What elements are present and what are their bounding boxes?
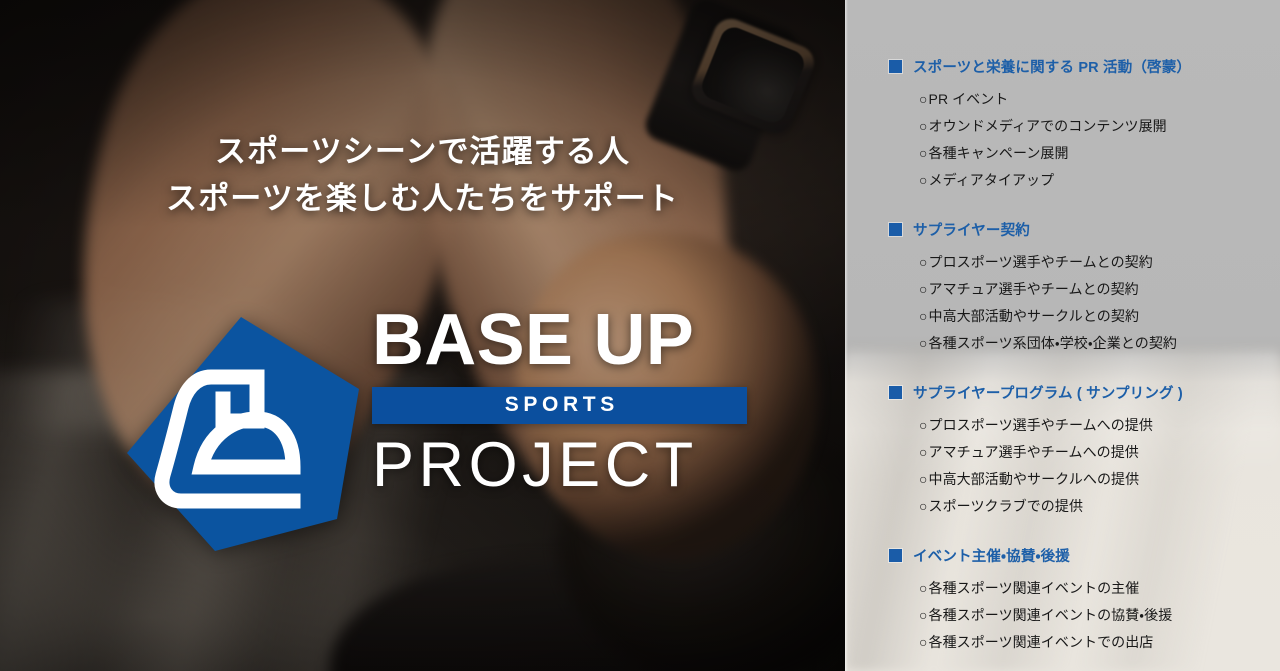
circle-bullet-icon: ○: [919, 86, 928, 113]
list-item-label: プロスポーツ選手やチームとの契約: [929, 249, 1153, 276]
hero-headline-line-1: スポーツシーンで活躍する人: [0, 128, 845, 175]
circle-bullet-icon: ○: [919, 249, 928, 276]
list-item-label: アマチュア選手やチームとの契約: [929, 276, 1139, 303]
list-item-label: 中高大部活動やサークルとの契約: [929, 303, 1140, 330]
hero-headline-line-2: スポーツを楽しむ人たちをサポート: [0, 175, 845, 222]
circle-bullet-icon: ○: [919, 167, 928, 194]
hero-headline: スポーツシーンで活躍する人 スポーツを楽しむ人たちをサポート: [0, 128, 845, 222]
square-bullet-icon: [889, 223, 902, 236]
list-item: ○各種スポーツ系団体・学校・企業との契約: [919, 330, 1280, 357]
list-item-label: 各種スポーツ関連イベントでの出店: [929, 629, 1154, 656]
circle-bullet-icon: ○: [919, 412, 928, 439]
list-item: ○各種キャンペーン展開: [919, 140, 1280, 167]
services-section-header: スポーツと栄養に関する PR 活動（啓蒙）: [889, 56, 1280, 77]
square-bullet-icon: [889, 549, 902, 562]
list-item: ○オウンドメディアでのコンテンツ展開: [919, 113, 1280, 140]
services-section: イベント主催・協賛・後援○各種スポーツ関連イベントの主催○各種スポーツ関連イベン…: [889, 545, 1280, 656]
services-section-header: サプライヤー契約: [889, 219, 1280, 240]
square-bullet-icon: [889, 60, 902, 73]
list-item: ○各種スポーツ関連イベントでの出店: [919, 629, 1280, 656]
circle-bullet-icon: ○: [919, 466, 928, 493]
services-section-title: サプライヤー契約: [913, 219, 1030, 240]
list-item: ○PR イベント: [919, 86, 1280, 113]
list-item-label: スポーツクラブでの提供: [929, 493, 1084, 520]
services-section-title: イベント主催・協賛・後援: [913, 545, 1070, 566]
circle-bullet-icon: ○: [919, 140, 928, 167]
services-section-title: スポーツと栄養に関する PR 活動（啓蒙）: [913, 56, 1191, 77]
services-item-list: ○PR イベント○オウンドメディアでのコンテンツ展開○各種キャンペーン展開○メデ…: [889, 86, 1280, 194]
circle-bullet-icon: ○: [919, 575, 928, 602]
list-item-label: PR イベント: [929, 86, 1009, 113]
square-bullet-icon: [889, 386, 902, 399]
list-item: ○アマチュア選手やチームとの契約: [919, 276, 1280, 303]
list-item-label: メディアタイアップ: [929, 167, 1055, 194]
list-item-label: 各種スポーツ関連イベントの主催: [929, 575, 1140, 602]
list-item-label: プロスポーツ選手やチームへの提供: [929, 412, 1153, 439]
circle-bullet-icon: ○: [919, 602, 928, 629]
hero-photo-panel: スポーツシーンで活躍する人 スポーツを楽しむ人たちをサポート BASE UP S…: [0, 0, 845, 671]
circle-bullet-icon: ○: [919, 493, 928, 520]
list-item: ○アマチュア選手やチームへの提供: [919, 439, 1280, 466]
circle-bullet-icon: ○: [919, 276, 928, 303]
brand-lockup: BASE UP SPORTS PROJECT: [0, 305, 845, 555]
wordmark-project: PROJECT: [372, 432, 757, 499]
services-item-list: ○プロスポーツ選手やチームへの提供○アマチュア選手やチームへの提供○中高大部活動…: [889, 412, 1280, 520]
circle-bullet-icon: ○: [919, 303, 928, 330]
list-item-label: 各種スポーツ関連イベントの協賛・後援: [929, 602, 1173, 629]
list-item: ○スポーツクラブでの提供: [919, 493, 1280, 520]
list-item: ○各種スポーツ関連イベントの協賛・後援: [919, 602, 1280, 629]
circle-bullet-icon: ○: [919, 629, 928, 656]
list-item-label: 中高大部活動やサークルへの提供: [929, 466, 1140, 493]
list-item: ○プロスポーツ選手やチームへの提供: [919, 412, 1280, 439]
wordmark: BASE UP SPORTS PROJECT: [372, 305, 757, 498]
flexed-arm-pentagon-logo-icon: [123, 315, 363, 553]
circle-bullet-icon: ○: [919, 113, 928, 140]
services-section-header: サプライヤープログラム ( サンプリング ): [889, 382, 1280, 403]
services-item-list: ○各種スポーツ関連イベントの主催○各種スポーツ関連イベントの協賛・後援○各種スポ…: [889, 575, 1280, 656]
slide-root: スポーツシーンで活躍する人 スポーツを楽しむ人たちをサポート BASE UP S…: [0, 0, 1280, 671]
services-section-title: サプライヤープログラム ( サンプリング ): [913, 382, 1183, 403]
list-item-label: オウンドメディアでのコンテンツ展開: [929, 113, 1167, 140]
services-item-list: ○プロスポーツ選手やチームとの契約○アマチュア選手やチームとの契約○中高大部活動…: [889, 249, 1280, 357]
wordmark-main: BASE UP: [372, 305, 757, 376]
circle-bullet-icon: ○: [919, 439, 928, 466]
services-panel: スポーツと栄養に関する PR 活動（啓蒙）○PR イベント○オウンドメディアでの…: [845, 0, 1280, 671]
services-section-list: スポーツと栄養に関する PR 活動（啓蒙）○PR イベント○オウンドメディアでの…: [845, 0, 1280, 671]
services-section: スポーツと栄養に関する PR 活動（啓蒙）○PR イベント○オウンドメディアでの…: [889, 56, 1280, 194]
list-item: ○プロスポーツ選手やチームとの契約: [919, 249, 1280, 276]
wordmark-sports-badge: SPORTS: [372, 387, 747, 424]
list-item-label: 各種スポーツ系団体・学校・企業との契約: [929, 330, 1177, 357]
wordmark-sports-label: SPORTS: [500, 393, 619, 417]
services-section-header: イベント主催・協賛・後援: [889, 545, 1280, 566]
list-item: ○各種スポーツ関連イベントの主催: [919, 575, 1280, 602]
list-item-label: アマチュア選手やチームへの提供: [929, 439, 1139, 466]
services-section: サプライヤー契約○プロスポーツ選手やチームとの契約○アマチュア選手やチームとの契…: [889, 219, 1280, 357]
list-item: ○メディアタイアップ: [919, 167, 1280, 194]
services-section: サプライヤープログラム ( サンプリング )○プロスポーツ選手やチームへの提供○…: [889, 382, 1280, 520]
circle-bullet-icon: ○: [919, 330, 928, 357]
list-item: ○中高大部活動やサークルへの提供: [919, 466, 1280, 493]
list-item-label: 各種キャンペーン展開: [929, 140, 1069, 167]
list-item: ○中高大部活動やサークルとの契約: [919, 303, 1280, 330]
